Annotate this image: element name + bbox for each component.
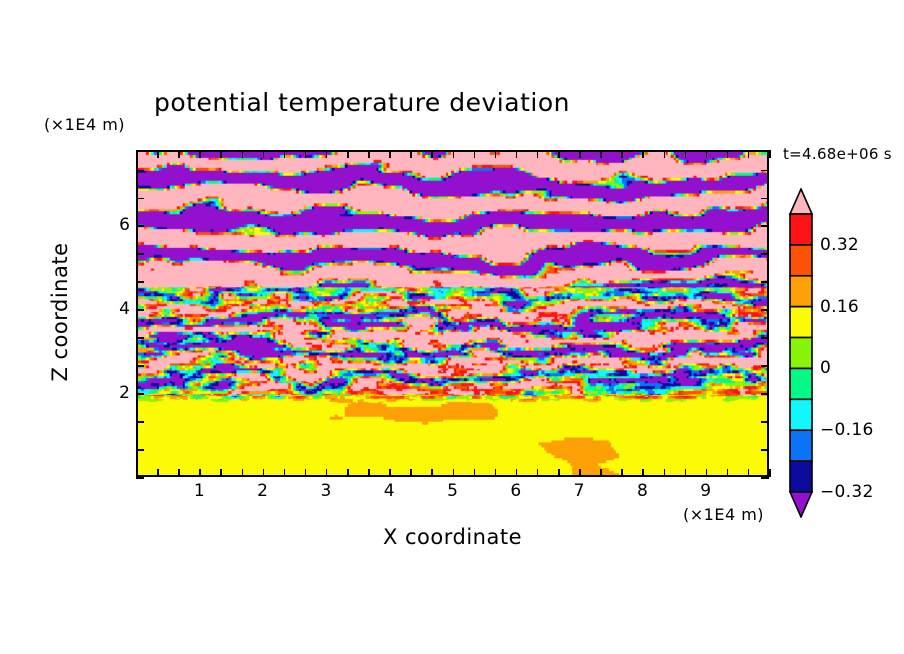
x-axis-tick	[558, 469, 560, 477]
y-axis-tick	[136, 449, 144, 451]
y-axis-tick	[761, 253, 769, 255]
x-tick-label: 7	[574, 481, 585, 501]
x-axis-tick	[727, 469, 729, 477]
x-axis-tick	[410, 469, 412, 477]
y-axis-tick	[761, 365, 769, 367]
x-tick-label: 8	[637, 481, 648, 501]
x-axis-tick	[537, 469, 539, 477]
x-axis-tick	[431, 150, 433, 158]
y-axis-tick	[136, 309, 144, 311]
y-axis-label: Z coordinate	[48, 192, 72, 432]
x-axis-tick	[453, 469, 455, 477]
colorbar-tick-label-group: 0.320.160−0.16−0.32	[820, 188, 900, 518]
y-axis-tick	[136, 253, 144, 255]
x-axis-tick	[410, 150, 412, 158]
x-axis-tick	[199, 469, 201, 477]
x-axis-tick	[516, 150, 518, 158]
x-axis-tick	[516, 469, 518, 477]
y-axis-tick	[761, 281, 769, 283]
colorbar-tick-label: 0.16	[820, 297, 859, 317]
x-axis-tick	[664, 469, 666, 477]
y-axis-tick	[761, 198, 769, 200]
x-axis-tick	[136, 469, 138, 477]
x-axis-tick	[748, 469, 750, 477]
y-axis-tick	[761, 309, 769, 311]
x-axis-tick	[453, 150, 455, 158]
x-axis-tick	[600, 469, 602, 477]
x-axis-tick	[178, 469, 180, 477]
y-axis-tick	[761, 225, 769, 227]
colorbar-tick-label: −0.32	[820, 482, 874, 502]
y-axis-tick	[136, 365, 144, 367]
x-tick-label: 1	[194, 481, 205, 501]
x-axis-tick	[474, 150, 476, 158]
x-axis-tick	[431, 469, 433, 477]
x-axis-tick	[642, 469, 644, 477]
y-tick-label: 6	[119, 215, 130, 235]
x-axis-tick	[748, 150, 750, 158]
x-axis-tick	[326, 150, 328, 158]
x-axis-tick	[284, 150, 286, 158]
y-tick-label: 2	[119, 383, 130, 403]
x-axis-tick	[220, 469, 222, 477]
x-axis-tick	[178, 150, 180, 158]
colorbar	[786, 188, 816, 518]
x-tick-label: 9	[700, 481, 711, 501]
x-axis-tick	[347, 469, 349, 477]
heatmap-canvas	[138, 152, 767, 475]
x-axis-tick	[600, 150, 602, 158]
x-axis-tick	[368, 469, 370, 477]
x-axis-tick	[263, 469, 265, 477]
x-axis-tick	[389, 150, 391, 158]
y-axis-tick	[761, 337, 769, 339]
plot-title-text: potential temperature deviation	[154, 88, 570, 117]
x-axis-tick	[305, 150, 307, 158]
y-axis-tick	[136, 421, 144, 423]
x-axis-tick	[769, 469, 771, 477]
y-axis-tick	[761, 477, 769, 479]
page-title: potential temperature deviation	[0, 88, 904, 117]
x-axis-tick	[621, 469, 623, 477]
x-axis-tick	[579, 469, 581, 477]
x-axis-tick	[368, 150, 370, 158]
x-axis-tick	[263, 150, 265, 158]
x-axis-tick	[136, 150, 138, 158]
x-axis-tick	[558, 150, 560, 158]
y-axis-tick	[761, 393, 769, 395]
x-axis-tick	[706, 150, 708, 158]
x-axis-tick	[242, 469, 244, 477]
x-axis-tick	[664, 150, 666, 158]
x-axis-tick	[769, 150, 771, 158]
colorbar-tick-label: 0.32	[820, 235, 859, 255]
x-axis-tick	[284, 469, 286, 477]
figure-canvas: potential temperature deviation (×1E4 m)…	[0, 0, 904, 654]
x-axis-tick	[326, 469, 328, 477]
x-axis-tick	[157, 469, 159, 477]
x-axis-tick	[242, 150, 244, 158]
x-tick-label: 4	[384, 481, 395, 501]
y-axis-tick	[136, 393, 144, 395]
x-axis-tick	[389, 469, 391, 477]
x-axis-tick	[685, 150, 687, 158]
x-axis-tick	[537, 150, 539, 158]
x-axis-tick	[495, 469, 497, 477]
x-axis-tick	[474, 469, 476, 477]
x-tick-label: 2	[257, 481, 268, 501]
y-axis-tick	[761, 170, 769, 172]
x-axis-label: X coordinate	[136, 525, 769, 549]
y-axis-tick	[136, 170, 144, 172]
x-axis-unit-label: (×1E4 m)	[683, 505, 764, 524]
x-tick-label: 3	[320, 481, 331, 501]
x-tick-label: 6	[510, 481, 521, 501]
y-axis-tick	[136, 337, 144, 339]
y-axis-tick	[136, 281, 144, 283]
x-axis-tick	[199, 150, 201, 158]
colorbar-tick-label: −0.16	[820, 420, 874, 440]
x-axis-tick	[685, 469, 687, 477]
colorbar-tick-label: 0	[820, 358, 831, 378]
x-axis-tick	[495, 150, 497, 158]
x-axis-tick	[305, 469, 307, 477]
x-tick-label-group: 123456789	[136, 481, 769, 505]
colorbar-svg	[786, 188, 816, 518]
y-tick-label: 4	[119, 299, 130, 319]
x-axis-tick	[157, 150, 159, 158]
y-axis-tick	[761, 449, 769, 451]
x-tick-label: 5	[447, 481, 458, 501]
y-axis-tick	[761, 421, 769, 423]
x-axis-tick	[727, 150, 729, 158]
x-axis-tick	[347, 150, 349, 158]
x-axis-tick	[642, 150, 644, 158]
y-axis-tick	[136, 198, 144, 200]
plot-area	[136, 150, 769, 477]
y-tick-label-group: 246	[96, 150, 130, 477]
x-axis-tick	[706, 469, 708, 477]
x-axis-tick	[579, 150, 581, 158]
time-annotation: t=4.68e+06 s	[783, 145, 892, 163]
x-axis-tick	[621, 150, 623, 158]
y-axis-tick	[136, 225, 144, 227]
y-axis-tick	[136, 477, 144, 479]
y-axis-unit-label: (×1E4 m)	[44, 115, 125, 134]
x-axis-tick	[220, 150, 222, 158]
